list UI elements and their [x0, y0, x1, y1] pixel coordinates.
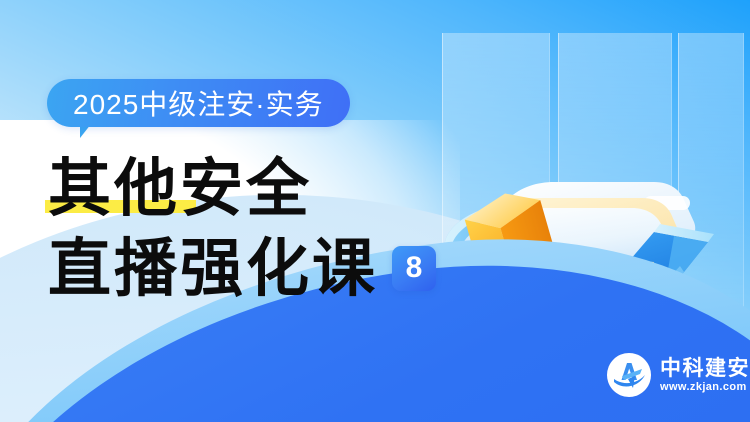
brand-logo-text: 中科建安 www.zkjan.com	[660, 358, 750, 393]
title-line-1: 其他安全	[48, 148, 436, 228]
subject-badge-label: 2025中级注安·实务	[47, 79, 350, 127]
page-title-line-2: 直播强化课	[48, 237, 378, 300]
page-title-line-1: 其他安全	[48, 157, 312, 220]
brand-logo: 中科建安 www.zkjan.com	[606, 352, 750, 398]
title-line-2: 直播强化课 8	[48, 228, 436, 308]
brand-url: www.zkjan.com	[660, 382, 750, 393]
subject-badge: 2025中级注安·实务	[47, 79, 350, 127]
course-banner: 2025中级注安·实务 其他安全 直播强化课 8 中科建安 www.zkjan.…	[0, 0, 750, 422]
zkjan-circle-logo-icon	[606, 352, 652, 398]
episode-number-badge: 8	[392, 246, 436, 291]
title-block: 其他安全 直播强化课 8	[48, 148, 436, 308]
brand-name: 中科建安	[660, 358, 750, 379]
